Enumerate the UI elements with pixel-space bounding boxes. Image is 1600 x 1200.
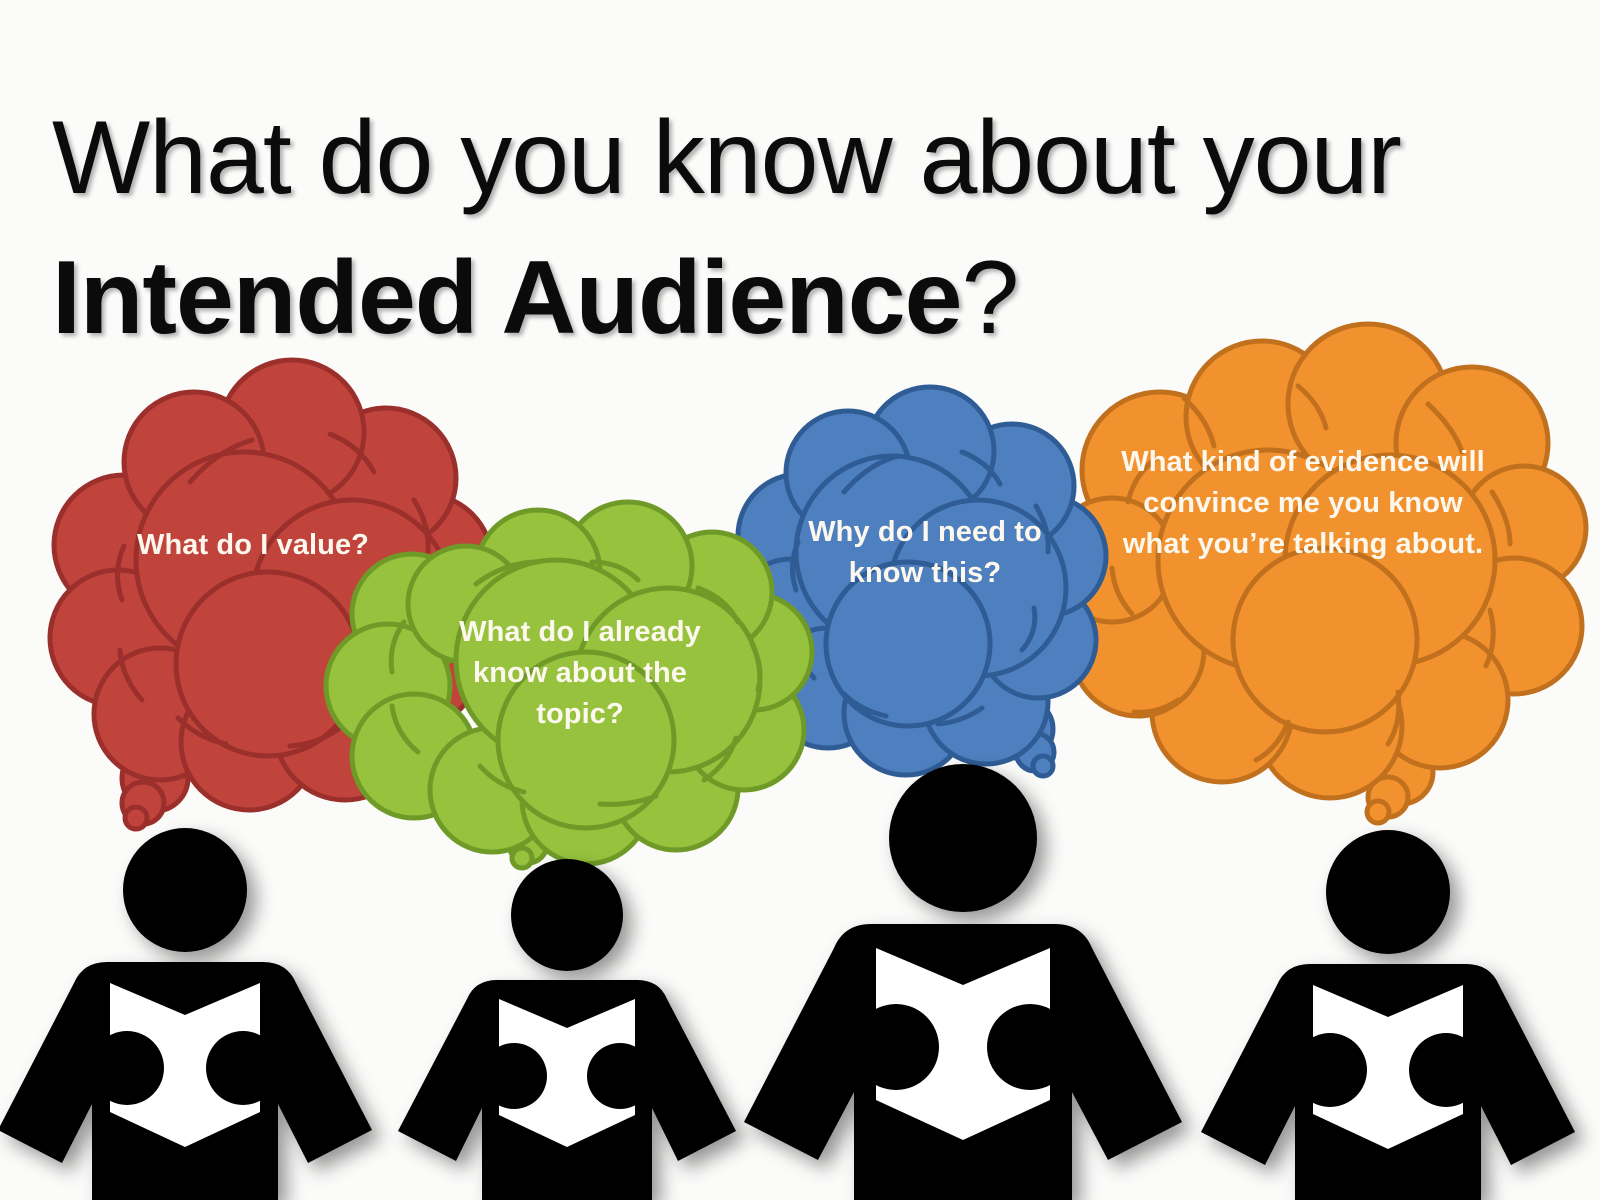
audience-figure-reader-1 [0,828,372,1200]
illustration [0,0,1600,1200]
audience-figure-reader-2 [398,859,736,1200]
thought-bubble-orange [1050,324,1586,823]
audience-figure-reader-4 [1201,830,1575,1200]
thought-bubble-green [326,502,812,868]
bubble-body-green [326,502,812,864]
audience-figure-reader-3 [744,764,1182,1200]
bubble-body-orange [1050,324,1586,798]
slide-canvas: What do you know about your Intended Aud… [0,0,1600,1200]
